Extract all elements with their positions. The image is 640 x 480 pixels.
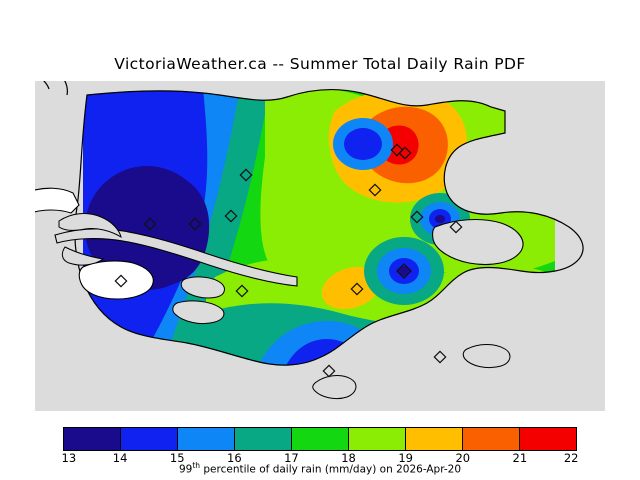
- colorbar-caption: 99th percentile of daily rain (mm/day) o…: [0, 461, 640, 476]
- colorbar-cell-6[interactable]: [406, 428, 463, 450]
- colorbar-cell-1[interactable]: [121, 428, 178, 450]
- colorbar-cell-2[interactable]: [178, 428, 235, 450]
- weather-map-page: VictoriaWeather.ca -- Summer Total Daily…: [0, 0, 640, 480]
- caption-superscript: th: [192, 461, 200, 470]
- pocket-north-edge-blue: [344, 128, 382, 160]
- colorbar-cell-0[interactable]: [64, 428, 121, 450]
- page-title: VictoriaWeather.ca -- Summer Total Daily…: [0, 55, 640, 73]
- colorbar-cell-3[interactable]: [235, 428, 292, 450]
- colorbar-cell-4[interactable]: [292, 428, 349, 450]
- map-panel[interactable]: [35, 81, 605, 411]
- colorbar-cell-7[interactable]: [463, 428, 520, 450]
- pocket-north-central-core: [435, 215, 445, 223]
- caption-prefix: 99: [179, 464, 192, 476]
- colorbar[interactable]: [63, 427, 577, 451]
- contour-map[interactable]: [35, 81, 605, 411]
- colorbar-swatches[interactable]: [63, 427, 577, 451]
- colorbar-cell-5[interactable]: [349, 428, 406, 450]
- colorbar-cell-8[interactable]: [520, 428, 576, 450]
- caption-rest: percentile of daily rain (mm/day) on 202…: [200, 464, 461, 476]
